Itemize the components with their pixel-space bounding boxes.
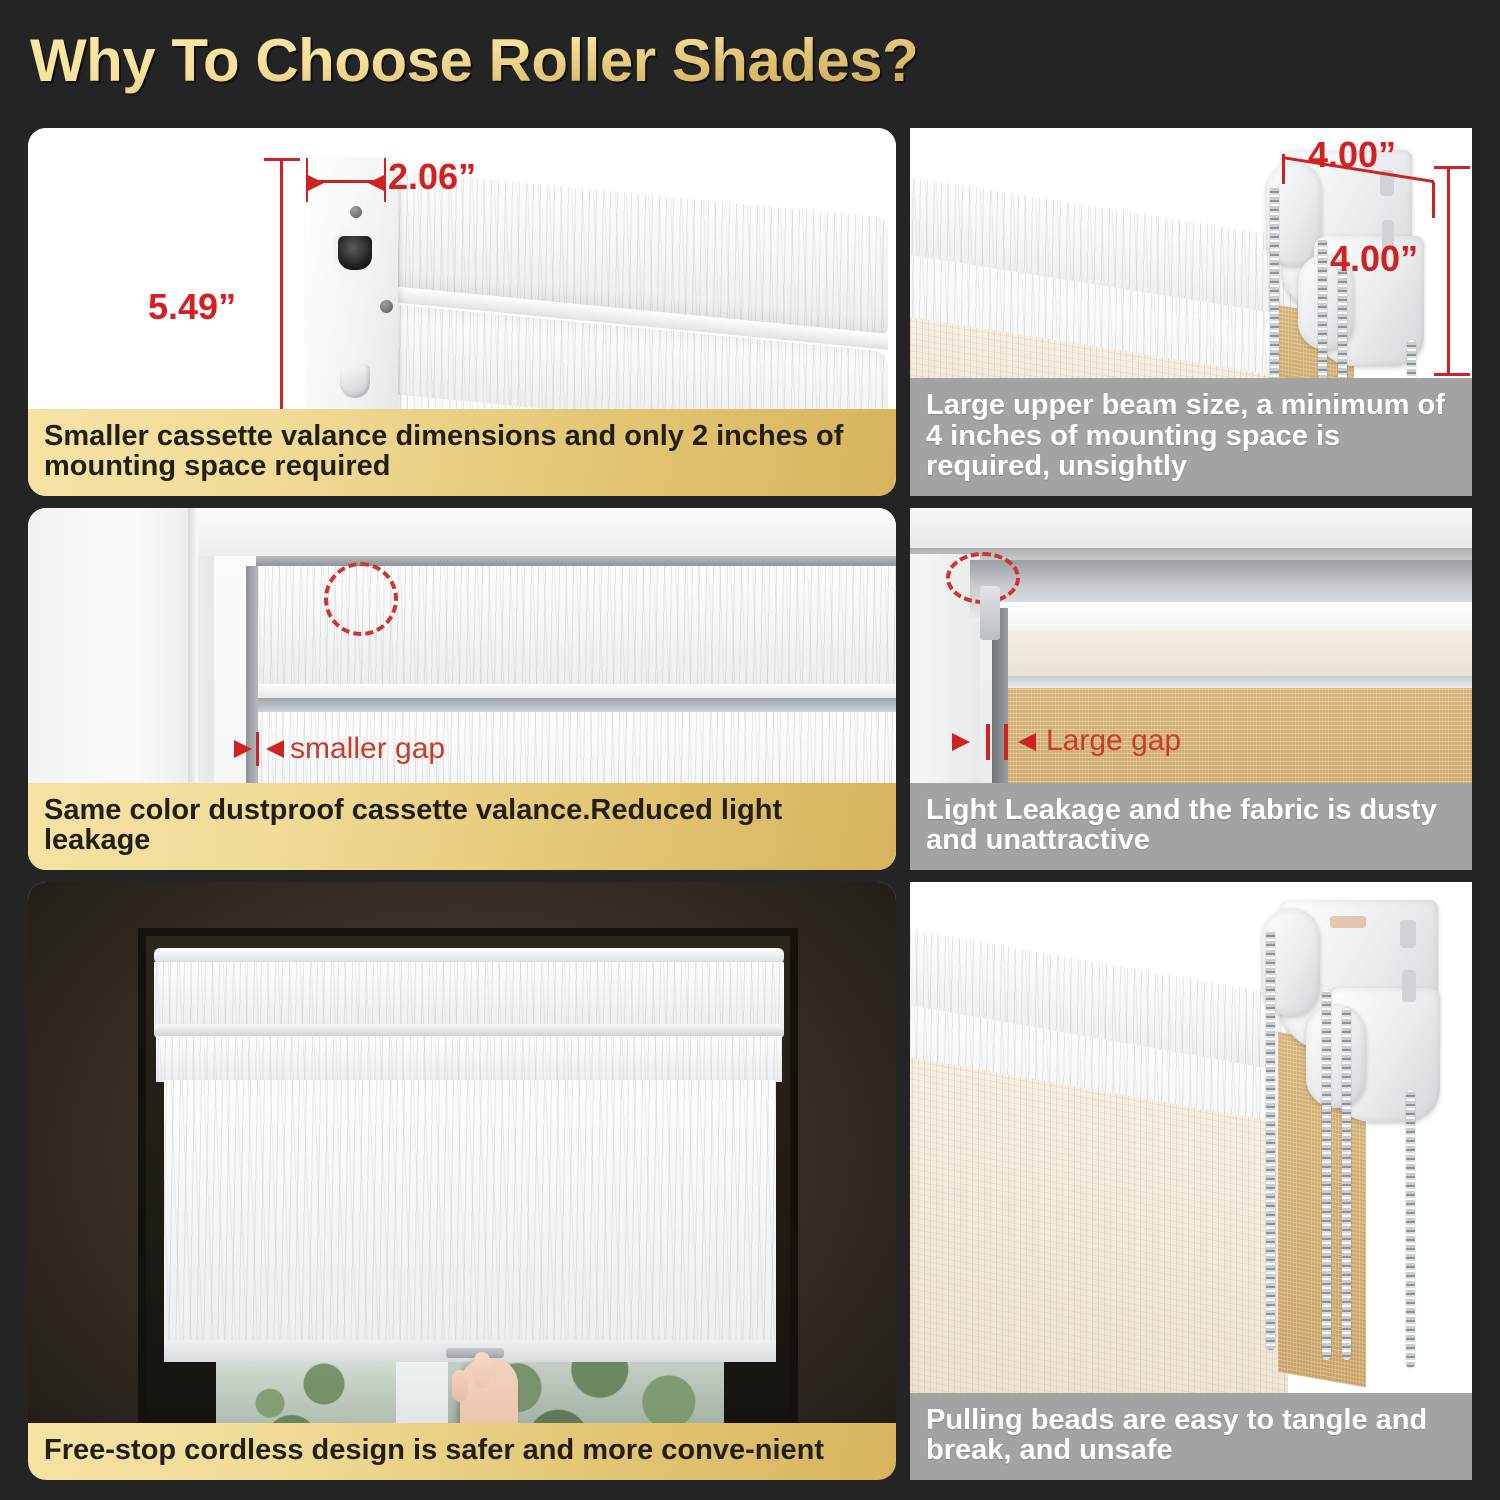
valance-screw-top <box>350 206 362 218</box>
highlight-circle-icon <box>324 562 398 636</box>
roller-end-disc-lower <box>1306 1004 1366 1108</box>
bead-chain-3 <box>1342 1008 1351 1360</box>
gap-tick <box>256 732 259 766</box>
cassette-face <box>154 962 784 1028</box>
beam-height-line <box>1447 166 1450 376</box>
dim-width-arrow-right <box>306 174 324 192</box>
panel-large-upper-beam: 4.00” 4.00” Large upper beam size, a min… <box>910 128 1472 496</box>
caption-pulling-beads-unsafe: Pulling beads are easy to tangle and bre… <box>910 1393 1472 1480</box>
window-frame-top <box>198 508 896 556</box>
panel-light-leakage: Large gap Light Leakage and the fabric i… <box>910 508 1472 870</box>
caption-large-upper-beam: Large upper beam size, a minimum of 4 in… <box>910 378 1472 496</box>
beam-height-label: 4.00” <box>1330 238 1418 280</box>
bracket-slot-bottom <box>1402 970 1416 1002</box>
valance-bottom-bracket <box>340 364 370 398</box>
rail-bottom-edge <box>1000 676 1472 688</box>
comparison-grid: 2.06” 5.49” Smaller cassette valance dim… <box>0 108 1500 1500</box>
gap-arrow-left <box>266 740 284 758</box>
gap-arrow-right <box>234 740 252 758</box>
beam-height-tick-top <box>1434 166 1470 169</box>
gap-label-large: Large gap <box>1046 724 1181 758</box>
caption-dustproof-cassette-valance: Same color dustproof cassette valance.Re… <box>28 783 896 870</box>
panel-free-stop-cordless: Free-stop cordless design is safer and m… <box>28 882 896 1480</box>
valance-screw-mid <box>380 300 393 313</box>
gap-arrow-right <box>952 733 970 751</box>
beam-width-tick-right <box>1432 182 1435 218</box>
valance-shadow-line <box>252 698 896 712</box>
beam-width-label: 4.00” <box>1308 134 1396 176</box>
dim-width-label: 2.06” <box>388 156 476 198</box>
dim-height-label: 5.49” <box>148 286 236 328</box>
bracket-clip <box>980 586 1000 640</box>
gap-tick-right <box>1004 724 1008 760</box>
bead-chain-2 <box>1322 990 1331 1360</box>
gap-label-smaller: smaller gap <box>290 732 445 766</box>
panel-smaller-cassette-valance: 2.06” 5.49” Smaller cassette valance dim… <box>28 128 896 496</box>
finger-thumb <box>452 1370 468 1402</box>
page-title: Why To Choose Roller Shades? <box>30 26 918 95</box>
dim-width-arrow-left <box>368 174 386 192</box>
caption-smaller-cassette-valance: Smaller cassette valance dimensions and … <box>28 409 896 496</box>
gap-tick-left <box>986 724 990 760</box>
cream-band <box>1006 630 1472 680</box>
photo-pulling-beads <box>910 882 1472 1480</box>
gap-arrow-left <box>1018 733 1036 751</box>
panel-dustproof-cassette-valance: smaller gap Same color dustproof cassett… <box>28 508 896 870</box>
beam-height-tick-bottom <box>1434 373 1470 376</box>
dim-height-tick-top <box>264 158 300 161</box>
page-header: Why To Choose Roller Shades? <box>30 20 1130 100</box>
caption-free-stop-cordless: Free-stop cordless design is safer and m… <box>28 1423 896 1480</box>
photo-cordless-window <box>28 882 896 1480</box>
cassette-skirt <box>156 1036 782 1082</box>
bead-chain-4 <box>1406 1090 1415 1368</box>
shade-fabric <box>164 1080 776 1346</box>
panel-pulling-beads-unsafe: Pulling beads are easy to tangle and bre… <box>910 882 1472 1480</box>
bracket-marking <box>1330 916 1366 928</box>
caption-light-leakage: Light Leakage and the fabric is dusty an… <box>910 783 1472 870</box>
valance-clutch-slot <box>338 236 372 270</box>
finger-index <box>474 1352 490 1388</box>
bracket-slot-top <box>1400 920 1416 948</box>
bead-chain-1 <box>1266 930 1275 1350</box>
